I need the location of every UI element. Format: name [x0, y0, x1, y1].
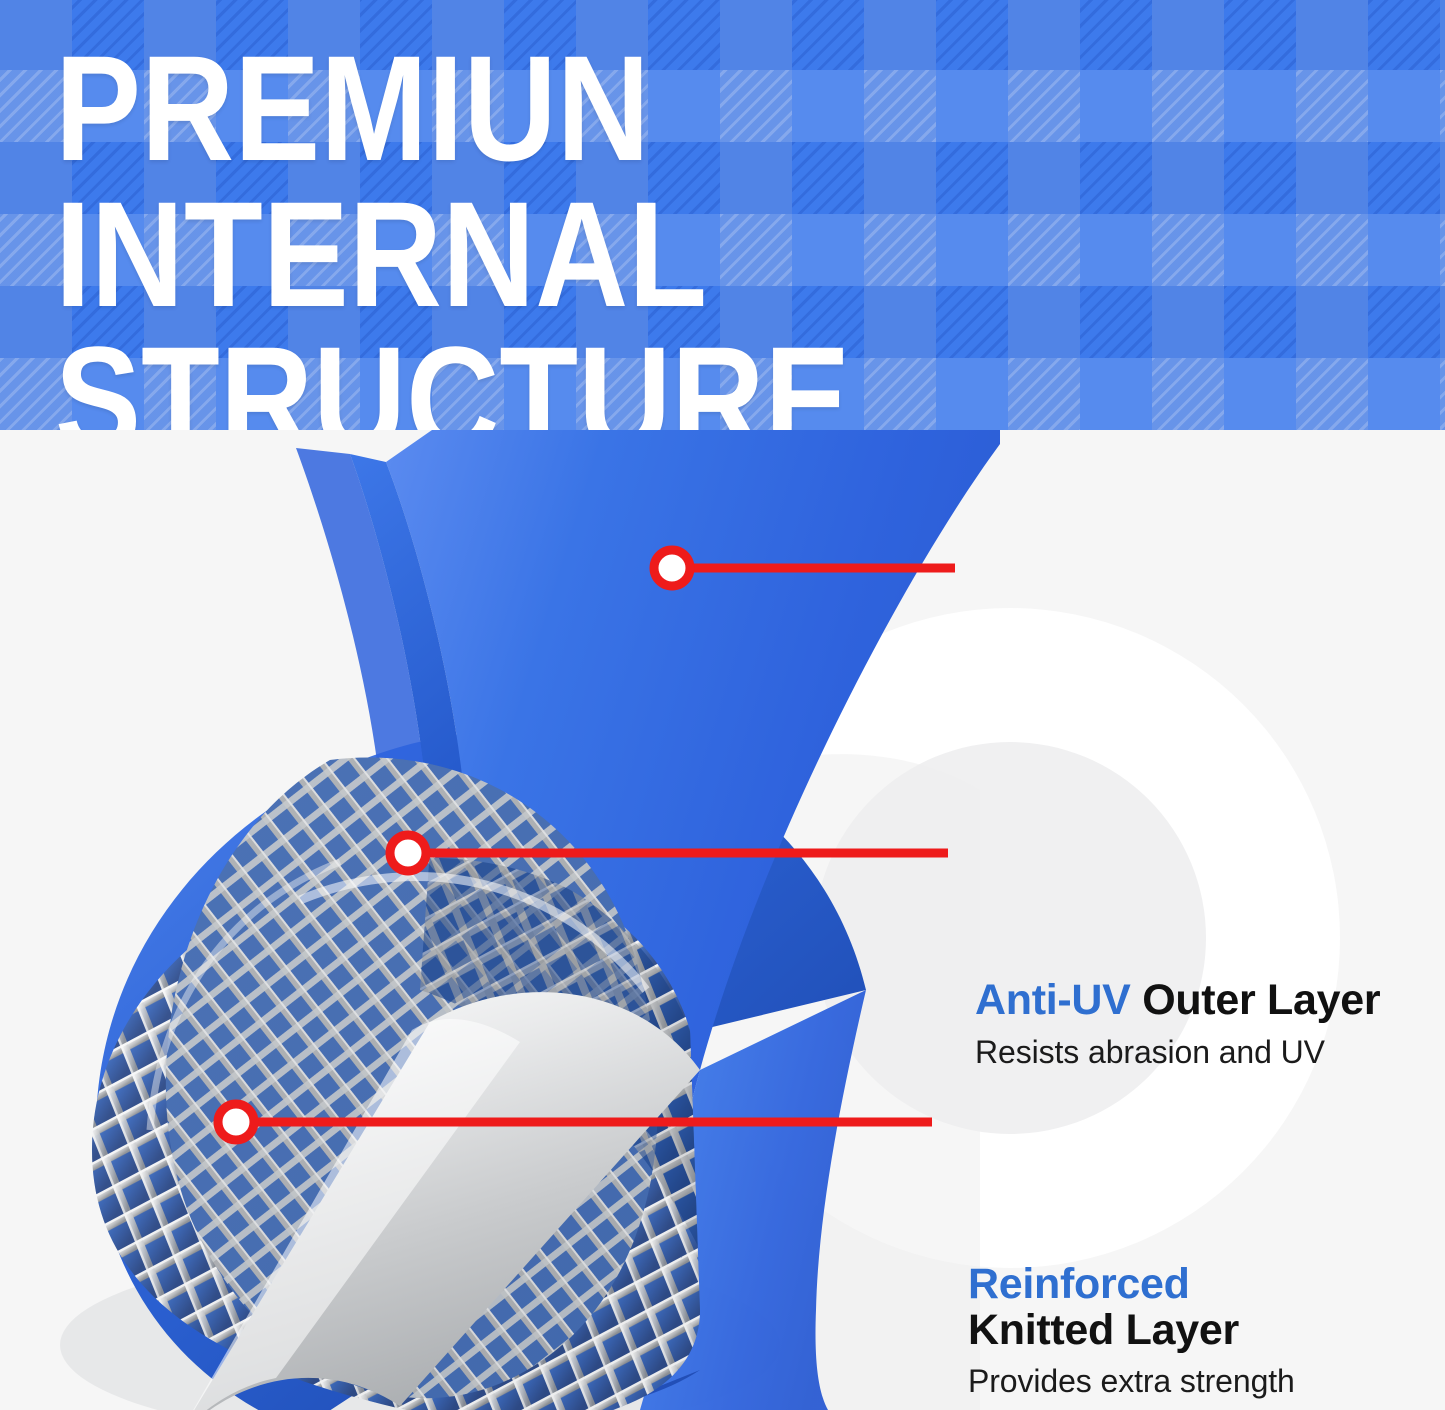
infographic-page: PREMIUN INTERNAL STRUCTURE	[0, 0, 1445, 1410]
callout-description-1: Resists abrasion and UV	[975, 1033, 1380, 1072]
callout-title-1: Anti-UV Outer Layer	[975, 978, 1380, 1024]
page-title: PREMIUN INTERNAL STRUCTURE	[55, 36, 1225, 430]
callout-title-2: Reinforced	[968, 1262, 1295, 1308]
callout-dot-1	[654, 550, 690, 586]
callout-title-2-line2: Knitted Layer	[968, 1308, 1295, 1354]
callout-title-highlight-2: Reinforced	[968, 1260, 1190, 1308]
callout-title-highlight-1: Anti-UV	[975, 976, 1131, 1024]
callout-dot-3	[218, 1104, 254, 1140]
callout-dot-2	[390, 835, 426, 871]
callout-description-2: Provides extra strength	[968, 1362, 1295, 1401]
header-banner: PREMIUN INTERNAL STRUCTURE	[0, 0, 1445, 430]
callout-anti-uv-outer-layer: Anti-UV Outer Layer Resists abrasion and…	[975, 978, 1380, 1072]
callout-reinforced-knitted-layer: Reinforced Knitted Layer Provides extra …	[968, 1262, 1295, 1401]
product-illustration-stage: Anti-UV Outer Layer Resists abrasion and…	[0, 430, 1445, 1410]
callout-title-rest-1: Outer Layer	[1131, 976, 1381, 1024]
